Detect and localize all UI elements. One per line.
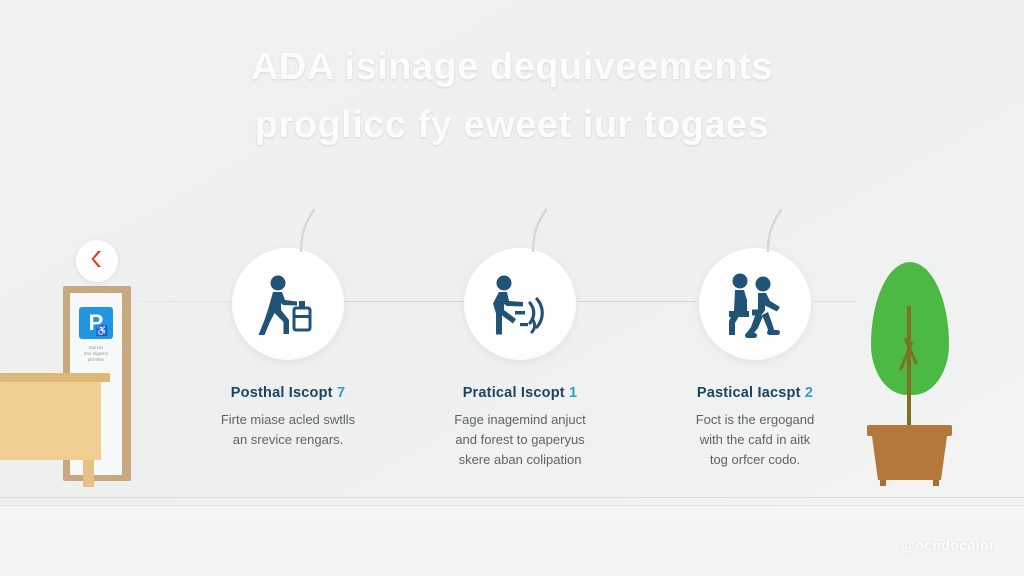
step-2-icon-circle[interactable] <box>464 248 576 360</box>
hanging-stem-icon <box>751 196 785 252</box>
step-3-icon-circle[interactable] <box>699 248 811 360</box>
step-1-body-line-1: Firte miase acled swtlls <box>173 410 403 430</box>
step-3[interactable]: Pastical Iacspt 2 Foct is the ergogand w… <box>640 248 870 470</box>
step-3-body: Foct is the ergogand with the cafd in ai… <box>640 410 870 470</box>
potted-tree <box>855 262 985 492</box>
hanging-stem-icon <box>516 196 550 252</box>
title-line-1: ADA isinage dequiveements <box>0 38 1024 96</box>
counter-body <box>0 382 101 460</box>
step-2-body-line-1: Fage inagemind anjuct <box>405 410 635 430</box>
tree-trunk <box>907 306 911 436</box>
page-title: ADA isinage dequiveements proglicc fy ew… <box>0 38 1024 154</box>
step-1-number: 7 <box>337 385 345 401</box>
counter-leg <box>83 460 94 487</box>
chevron-left-icon <box>86 248 108 275</box>
step-1-body: Firte miase acled swtlls an srevice reng… <box>173 410 403 450</box>
infographic-canvas: ADA isinage dequiveements proglicc fy ew… <box>0 0 1024 576</box>
walking-person-with-suitcase-icon <box>252 268 324 340</box>
wheelchair-icon: ♿ <box>96 327 108 337</box>
step-1-icon-circle[interactable] <box>232 248 344 360</box>
step-3-body-line-1: Foct is the ergogand <box>640 410 870 430</box>
watermark: @ocndocaInt <box>901 537 994 553</box>
step-3-body-line-2: with the cafd in aitk <box>640 430 870 450</box>
pot-body <box>872 436 947 480</box>
step-2-body-line-2: and forest to gaperyus <box>405 430 635 450</box>
sign-caption-line-3: pitl Wne <box>72 357 120 363</box>
step-2-number: 1 <box>569 385 577 401</box>
accessible-parking-sign: P ♿ <box>79 307 113 339</box>
pot-foot-left <box>880 480 886 486</box>
service-counter-scene: P ♿ Sunzes trnu nligemn pitl Wne <box>0 230 190 510</box>
hanging-stem-icon <box>284 196 318 252</box>
step-1-title-text: Posthal Iscopt <box>231 385 333 401</box>
pot-foot-right <box>933 480 939 486</box>
step-3-title-text: Pastical Iacspt <box>697 385 801 401</box>
floor-band <box>0 506 1024 576</box>
person-with-sound-waves-icon <box>484 268 556 340</box>
title-line-2: proglicc fy eweet iur togaes <box>0 96 1024 154</box>
step-2[interactable]: Pratical Iscopt 1 Fage inagemind anjuct … <box>405 248 635 470</box>
step-2-body: Fage inagemind anjuct and forest to gape… <box>405 410 635 470</box>
step-3-number: 2 <box>805 385 813 401</box>
counter-top <box>0 373 110 382</box>
chevron-badge[interactable] <box>76 240 118 282</box>
person-assisting-seated-person-icon <box>718 267 792 341</box>
step-2-body-line-3: skere aban colipation <box>405 450 635 470</box>
sign-caption: Sunzes trnu nligemn pitl Wne <box>72 345 120 363</box>
step-1-title: Posthal Iscopt 7 <box>173 385 403 401</box>
step-3-body-line-3: tog orfcer codo. <box>640 450 870 470</box>
step-1[interactable]: Posthal Iscopt 7 Firte miase acled swtll… <box>173 248 403 450</box>
step-1-body-line-2: an srevice rengars. <box>173 430 403 450</box>
step-3-title: Pastical Iacspt 2 <box>640 385 870 401</box>
step-2-title: Pratical Iscopt 1 <box>405 385 635 401</box>
pot-rim <box>867 425 952 436</box>
step-2-title-text: Pratical Iscopt <box>463 385 565 401</box>
